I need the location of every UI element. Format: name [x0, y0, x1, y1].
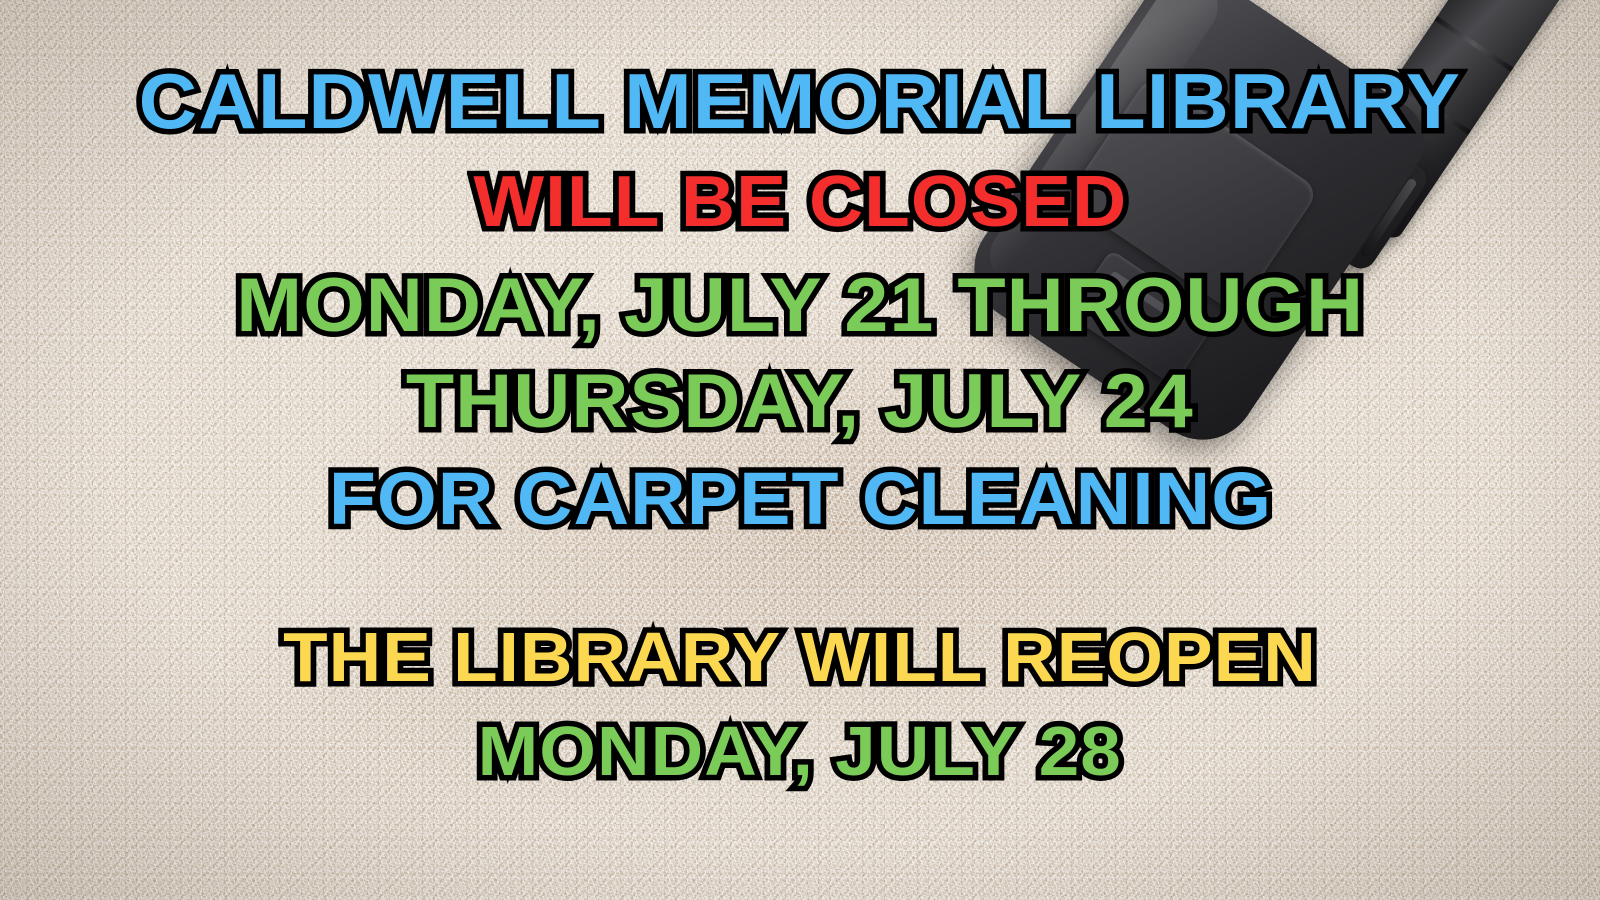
- line-library-name: CALDWELL MEMORIAL LIBRARY: [139, 62, 1461, 140]
- line-reopen-date: MONDAY, JULY 28: [478, 716, 1122, 786]
- line-closure-start: MONDAY, JULY 21 THROUGH: [236, 268, 1364, 344]
- line-closure-end: THURSDAY, JULY 24: [406, 364, 1194, 440]
- notice-text-block: CALDWELL MEMORIAL LIBRARY WILL BE CLOSED…: [0, 0, 1600, 900]
- line-closed-status: WILL BE CLOSED: [473, 166, 1127, 238]
- line-closure-reason: FOR CARPET CLEANING: [328, 462, 1271, 536]
- closure-notice-poster: CALDWELL MEMORIAL LIBRARY WILL BE CLOSED…: [0, 0, 1600, 900]
- line-reopen-notice: THE LIBRARY WILL REOPEN: [283, 622, 1317, 692]
